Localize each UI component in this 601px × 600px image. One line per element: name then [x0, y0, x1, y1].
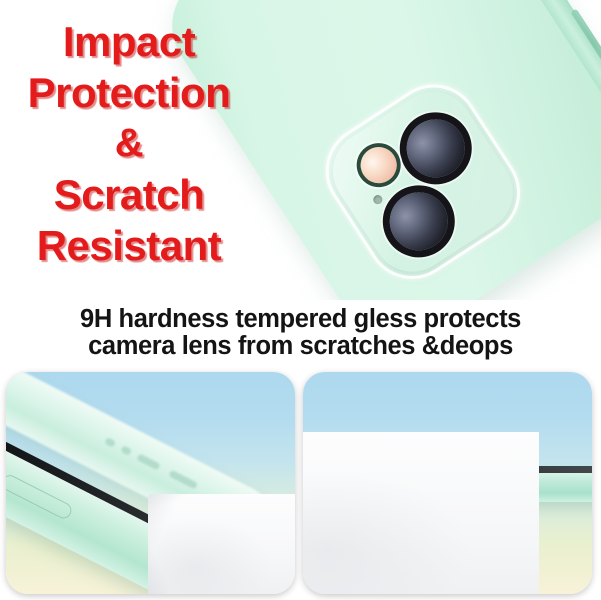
marble-surface: [148, 494, 295, 594]
speaker-slot: [120, 445, 132, 456]
headline-line-1: Impact: [0, 16, 258, 67]
promo-headline: Impact Protection & Scratch Resistant: [0, 16, 258, 271]
headline-line-5: Resistant: [0, 220, 258, 271]
product-photo-panels: [0, 368, 601, 600]
camera-module: [318, 77, 528, 287]
headline-line-4: Scratch: [0, 169, 258, 220]
speaker-slot: [104, 437, 116, 448]
hero-phone-image: [238, 0, 601, 300]
headline-line-3: &: [0, 118, 258, 169]
subtitle-line-1: 9H hardness tempered gless protects: [0, 306, 601, 333]
headline-line-2: Protection: [0, 67, 258, 118]
marble-surface: [303, 432, 539, 594]
speaker-slot: [168, 470, 198, 490]
photo-panel-left: [6, 372, 295, 594]
volume-button: [570, 8, 601, 77]
speaker-slot: [136, 453, 161, 470]
hero-section: Impact Protection & Scratch Resistant: [0, 0, 601, 300]
subtitle-line-2: camera lens from scratches &deops: [0, 333, 601, 360]
lens-protector-glass: [308, 67, 538, 297]
promo-subtitle: 9H hardness tempered gless protects came…: [0, 306, 601, 360]
photo-panel-right: [303, 372, 592, 594]
